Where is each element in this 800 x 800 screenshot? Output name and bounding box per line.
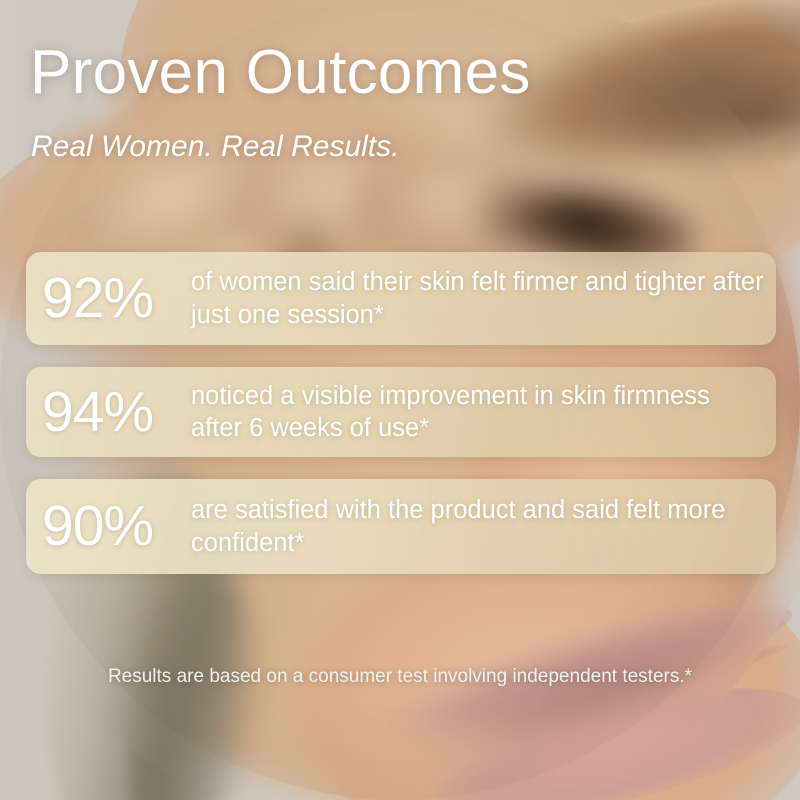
stat-percentage: 92%	[26, 270, 191, 327]
stat-card: 94% noticed a visible improvement in ski…	[26, 367, 776, 457]
stat-card: 90% are satisfied with the product and s…	[26, 479, 776, 574]
stat-percentage: 90%	[26, 498, 191, 555]
stat-percentage: 94%	[26, 384, 191, 441]
stat-description: are satisfied with the product and said …	[191, 494, 776, 558]
stat-description: of women said their skin felt firmer and…	[191, 266, 776, 330]
stat-card: 92% of women said their skin felt firmer…	[26, 252, 776, 345]
page-title: Proven Outcomes	[30, 42, 531, 104]
content-layer: Proven Outcomes Real Women. Real Results…	[0, 0, 800, 800]
promo-graphic: Proven Outcomes Real Women. Real Results…	[0, 0, 800, 800]
footnote-disclaimer: Results are based on a consumer test inv…	[0, 666, 800, 688]
stat-description: noticed a visible improvement in skin fi…	[191, 380, 776, 444]
page-subtitle: Real Women. Real Results.	[31, 130, 399, 164]
stat-card-list: 92% of women said their skin felt firmer…	[26, 252, 776, 574]
